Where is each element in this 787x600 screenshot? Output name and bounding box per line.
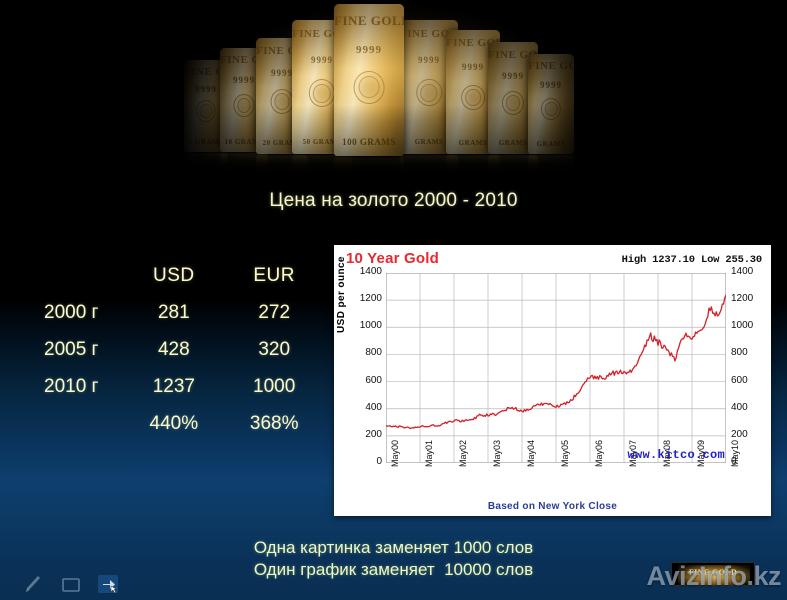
cell-usd: 281 bbox=[127, 295, 220, 332]
x-tick-label: May00 bbox=[390, 440, 400, 467]
tagline-1: Одна картинка заменяет 1000 слов bbox=[0, 537, 787, 559]
bar-weight-label: 100 GRAMS bbox=[334, 137, 404, 147]
x-tick-label: May10 bbox=[730, 440, 740, 467]
y-tick-label: 400 bbox=[365, 402, 382, 413]
watermark-text: AvizInfo.kz bbox=[646, 561, 781, 592]
bar-seal-icon bbox=[541, 98, 561, 120]
cell-eur: 272 bbox=[220, 295, 328, 332]
bar-seal-icon bbox=[233, 94, 254, 117]
bar-fine-label: FINE GOLD bbox=[528, 60, 574, 72]
bar-seal-icon bbox=[354, 71, 385, 104]
y-tick-label-right: 1200 bbox=[731, 293, 753, 304]
y-tick-label: 800 bbox=[365, 347, 382, 358]
y-tick-label: 200 bbox=[365, 429, 382, 440]
cell-usd: 1237 bbox=[127, 369, 220, 406]
y-tick-label-right: 800 bbox=[731, 347, 748, 358]
presentation-slide: FINE GOLD 9999 5 GRAMS FINE GOLD 9999 10… bbox=[0, 0, 787, 600]
chart-y-axis-label: USD per ounce bbox=[336, 256, 347, 333]
table-row-growth: 440% 368% bbox=[28, 406, 328, 443]
bar-seal-icon bbox=[271, 89, 294, 114]
y-tick-label: 1200 bbox=[360, 293, 382, 304]
y-tick-label: 0 bbox=[376, 456, 382, 467]
y-tick-label-right: 400 bbox=[731, 402, 748, 413]
row-label: 2000 г bbox=[28, 295, 127, 332]
x-tick-label: May01 bbox=[424, 440, 434, 467]
arrow-right-icon[interactable] bbox=[96, 573, 120, 595]
cell-usd: 428 bbox=[127, 332, 220, 369]
chart-title: 10 Year Gold bbox=[346, 250, 439, 267]
bar-seal-icon bbox=[502, 91, 524, 115]
chart-plot-area: 0200400600800100012001400 02004006008001… bbox=[386, 273, 726, 463]
cell-eur-growth: 368% bbox=[220, 406, 328, 443]
y-tick-label: 600 bbox=[365, 375, 382, 386]
chart-svg bbox=[386, 273, 726, 463]
bar-reflection bbox=[334, 157, 404, 176]
bar-seal-icon bbox=[196, 100, 215, 121]
bar-seal-icon bbox=[309, 79, 335, 107]
bar-weight-label: GRAMS bbox=[528, 140, 574, 148]
column-header-eur: EUR bbox=[220, 258, 328, 295]
x-tick-label: May03 bbox=[492, 440, 502, 467]
table-row: 2010 г 1237 1000 bbox=[28, 369, 328, 406]
gold-price-chart: 10 Year Gold High 1237.10 Low 255.30 USD… bbox=[334, 245, 771, 516]
chart-high-low-annotation: High 1237.10 Low 255.30 bbox=[622, 254, 762, 266]
chart-source-url: www.kitco.com bbox=[627, 448, 725, 462]
row-label bbox=[28, 406, 127, 443]
table-header-row: USD EUR bbox=[28, 258, 328, 295]
x-tick-label: May05 bbox=[560, 440, 570, 467]
y-tick-label-right: 1000 bbox=[731, 320, 753, 331]
cell-eur: 1000 bbox=[220, 369, 328, 406]
presentation-controls bbox=[22, 573, 120, 595]
y-tick-label-right: 1400 bbox=[731, 266, 753, 277]
bar-purity-label: 9999 bbox=[528, 80, 574, 90]
gold-bars-photo: FINE GOLD 9999 5 GRAMS FINE GOLD 9999 10… bbox=[178, 0, 602, 176]
slide-icon[interactable] bbox=[59, 573, 83, 595]
cell-eur: 320 bbox=[220, 332, 328, 369]
row-label: 2005 г bbox=[28, 332, 127, 369]
column-header-usd: USD bbox=[127, 258, 220, 295]
y-tick-label-right: 200 bbox=[731, 429, 748, 440]
bar-seal-icon bbox=[461, 85, 485, 111]
chart-footer-note: Based on New York Close bbox=[334, 501, 771, 512]
bar-reflection bbox=[528, 155, 574, 176]
gold-price-table: USD EUR 2000 г 281 272 2005 г 428 320 20… bbox=[28, 258, 328, 443]
table-row: 2000 г 281 272 bbox=[28, 295, 328, 332]
x-tick-label: May04 bbox=[526, 440, 536, 467]
x-tick-label: May06 bbox=[594, 440, 604, 467]
cell-usd-growth: 440% bbox=[127, 406, 220, 443]
bar-fine-label: FINE GOLD bbox=[334, 13, 404, 29]
pen-icon[interactable] bbox=[22, 573, 46, 595]
table-row: 2005 г 428 320 bbox=[28, 332, 328, 369]
bar-seal-icon bbox=[416, 79, 442, 107]
y-tick-label-right: 600 bbox=[731, 375, 748, 386]
y-tick-label: 1400 bbox=[360, 266, 382, 277]
column-header-blank bbox=[28, 258, 127, 295]
page-title: Цена на золото 2000 - 2010 bbox=[0, 190, 787, 212]
bar-purity-label: 9999 bbox=[334, 44, 404, 56]
x-tick-label: May02 bbox=[458, 440, 468, 467]
y-tick-label: 1000 bbox=[360, 320, 382, 331]
row-label: 2010 г bbox=[28, 369, 127, 406]
